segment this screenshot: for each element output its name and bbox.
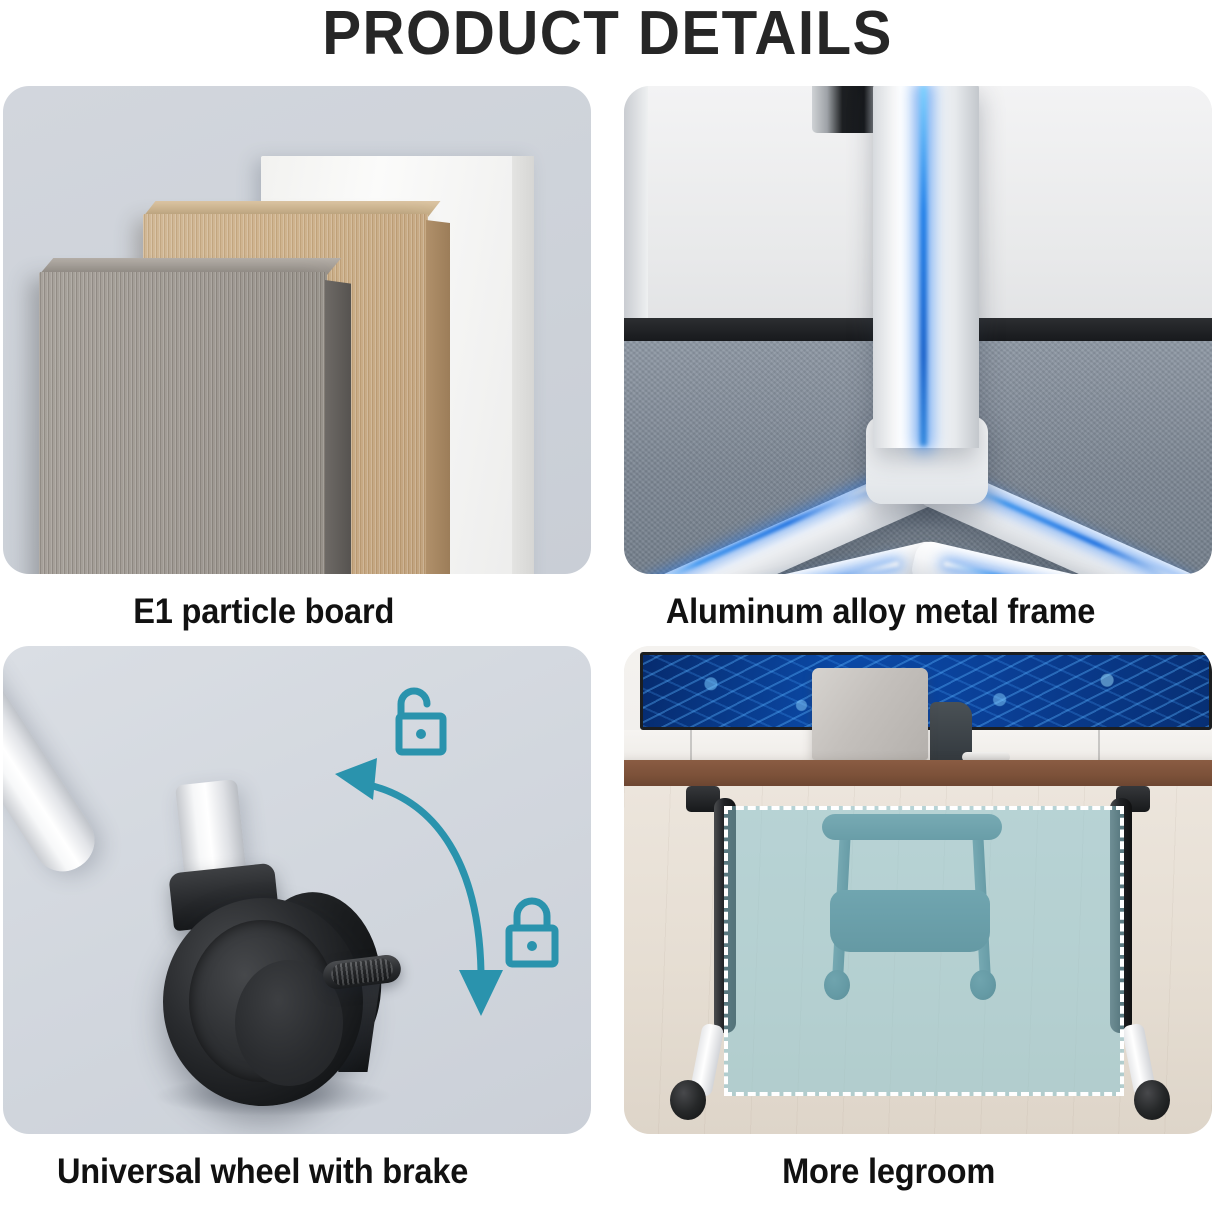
wall-shadow [624, 86, 648, 329]
gray-board [39, 272, 327, 574]
more-legroom-image [624, 646, 1212, 1134]
gray-board-face [39, 272, 327, 574]
detail-caption-metal-frame: Aluminum alloy metal frame [624, 590, 1171, 634]
white-board-edge [512, 156, 534, 574]
desk-top-surface [624, 760, 1212, 788]
caster-wheel-inner [189, 920, 335, 1082]
detail-caption-particle-board: E1 particle board [3, 590, 550, 634]
glow-accent-column [920, 86, 927, 446]
detail-card-more-legroom: More legroom [624, 646, 1212, 1206]
detail-card-metal-frame: Aluminum alloy metal frame [624, 86, 1212, 646]
table-leg-upper [3, 646, 106, 883]
product-details-grid: E1 particle board Aluminum alloy metal f… [3, 86, 1212, 1201]
oak-board-edge [426, 220, 450, 574]
detail-card-particle-board: E1 particle board [3, 86, 591, 646]
particle-board-image [3, 86, 591, 574]
detail-caption-universal-wheel: Universal wheel with brake [3, 1150, 550, 1194]
metal-frame-image [624, 86, 1212, 574]
laptop [812, 668, 928, 760]
page-title: PRODUCT DETAILS [36, 0, 1178, 72]
detail-card-universal-wheel: Universal wheel with brake [3, 646, 591, 1206]
detail-caption-more-legroom: More legroom [624, 1150, 1171, 1194]
gray-board-edge [325, 280, 351, 574]
universal-wheel-image [3, 646, 591, 1134]
legroom-highlight-box [724, 806, 1124, 1096]
desk-caster-left [670, 1080, 706, 1120]
desk-caster-right [1134, 1080, 1170, 1120]
curved-arrow-icon [329, 748, 519, 1028]
